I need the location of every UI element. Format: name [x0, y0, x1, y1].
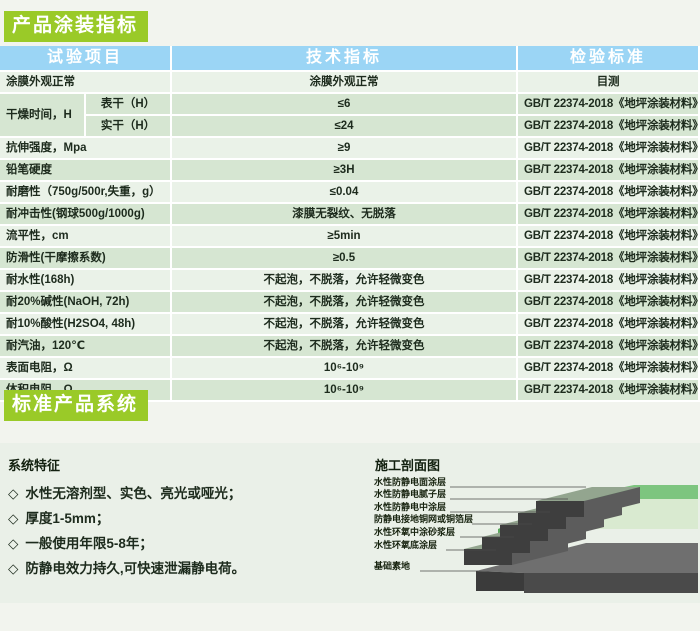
cell-standard: GB/T 22374-2018《地坪涂装材料》: [518, 226, 700, 248]
spec-table-body: 涂膜外观正常 涂膜外观正常 目测 干燥时间，H 表干（H） ≤6 GB/T 22…: [0, 72, 700, 402]
cell-item: 涂膜外观正常: [0, 72, 172, 94]
spec-table-head: 试验项目 技术指标 检验标准: [0, 46, 700, 72]
layer-label-6: 基础素地: [373, 560, 410, 571]
cell-value: 不起泡，不脱落，允许轻微变色: [172, 314, 518, 336]
cell-value: 不起泡，不脱落，允许轻微变色: [172, 336, 518, 358]
table-row: 耐20%碱性(NaOH, 72h) 不起泡，不脱落，允许轻微变色 GB/T 22…: [0, 292, 700, 314]
cell-item-merged: 干燥时间，H: [0, 94, 86, 138]
spec-table-container: 试验项目 技术指标 检验标准 涂膜外观正常 涂膜外观正常 目测 干燥时间，H 表…: [0, 46, 700, 402]
cell-value: 不起泡，不脱落，允许轻微变色: [172, 292, 518, 314]
cell-standard: GB/T 22374-2018《地坪涂装材料》: [518, 160, 700, 182]
cell-value: ≥5min: [172, 226, 518, 248]
table-row: 耐冲击性(钢球500g/1000g) 漆膜无裂纹、无脱落 GB/T 22374-…: [0, 204, 700, 226]
table-row: 耐10%酸性(H2SO4, 48h) 不起泡，不脱落，允许轻微变色 GB/T 2…: [0, 314, 700, 336]
layer-label-4: 水性环氧中涂砂浆层: [374, 526, 455, 537]
cell-standard: GB/T 22374-2018《地坪涂装材料》: [518, 248, 700, 270]
cell-item: 抗伸强度，Mpa: [0, 138, 172, 160]
cell-standard: GB/T 22374-2018《地坪涂装材料》: [518, 182, 700, 204]
table-row: 涂膜外观正常 涂膜外观正常 目测: [0, 72, 700, 94]
list-item-label: 水性无溶剂型、实色、亮光或哑光；: [25, 486, 241, 501]
cell-value: ≥0.5: [172, 248, 518, 270]
table-row: 抗伸强度，Mpa ≥9 GB/T 22374-2018《地坪涂装材料》: [0, 138, 700, 160]
list-item-label: 一般使用年限5-8年；: [25, 536, 153, 551]
cell-subitem: 表干（H）: [86, 94, 172, 116]
features-list: ◇水性无溶剂型、实色、亮光或哑光； ◇厚度1-5mm； ◇一般使用年限5-8年；…: [8, 481, 245, 581]
cell-item: 耐水性(168h): [0, 270, 172, 292]
cell-standard: GB/T 22374-2018《地坪涂装材料》: [518, 94, 700, 116]
layer-label-0: 水性防静电面涂层: [374, 476, 446, 487]
cell-item: 防滑性(干摩擦系数): [0, 248, 172, 270]
cell-value: ≤0.04: [172, 182, 518, 204]
table-row: 耐磨性（750g/500r,失重，g） ≤0.04 GB/T 22374-201…: [0, 182, 700, 204]
diamond-bullet-icon: ◇: [8, 511, 18, 526]
table-row: 流平性，cm ≥5min GB/T 22374-2018《地坪涂装材料》: [0, 226, 700, 248]
diamond-bullet-icon: ◇: [8, 536, 18, 551]
cell-standard: GB/T 22374-2018《地坪涂装材料》: [518, 116, 700, 138]
cell-item: 流平性，cm: [0, 226, 172, 248]
column-header-standard: 检验标准: [518, 46, 700, 72]
diamond-bullet-icon: ◇: [8, 561, 18, 576]
cell-standard: GB/T 22374-2018《地坪涂装材料》: [518, 138, 700, 160]
cell-standard: GB/T 22374-2018《地坪涂装材料》: [518, 270, 700, 292]
spec-table: 试验项目 技术指标 检验标准 涂膜外观正常 涂膜外观正常 目测 干燥时间，H 表…: [0, 46, 700, 402]
cross-section-diagram: 水性防静电面涂层 水性防静电腻子层 水性防静电中涂层 防静电接地铜网或铜箔层 水…: [372, 473, 698, 601]
cell-value: 漆膜无裂纹、无脱落: [172, 204, 518, 226]
diagram-title: 施工剖面图: [375, 455, 440, 474]
table-row: 防滑性(干摩擦系数) ≥0.5 GB/T 22374-2018《地坪涂装材料》: [0, 248, 700, 270]
cell-item: 耐10%酸性(H2SO4, 48h): [0, 314, 172, 336]
cell-value: 涂膜外观正常: [172, 72, 518, 94]
table-row: 耐水性(168h) 不起泡，不脱落，允许轻微变色 GB/T 22374-2018…: [0, 270, 700, 292]
layer-label-3: 防静电接地铜网或铜箔层: [374, 513, 473, 524]
cell-subitem: 实干（H）: [86, 116, 172, 138]
cell-value: ≤24: [172, 116, 518, 138]
cell-item: 耐冲击性(钢球500g/1000g): [0, 204, 172, 226]
list-item: ◇一般使用年限5-8年；: [8, 531, 245, 556]
cell-item: 耐磨性（750g/500r,失重，g）: [0, 182, 172, 204]
cell-value: ≤6: [172, 94, 518, 116]
section-badge-system: 标准产品系统: [4, 390, 148, 421]
table-header-row: 试验项目 技术指标 检验标准: [0, 46, 700, 72]
list-item: ◇厚度1-5mm；: [8, 506, 245, 531]
layer-label-2: 水性防静电中涂层: [374, 501, 446, 512]
table-row: 铅笔硬度 ≥3H GB/T 22374-2018《地坪涂装材料》: [0, 160, 700, 182]
cell-standard: GB/T 22374-2018《地坪涂装材料》: [518, 336, 700, 358]
layer-label-5: 水性环氧底涂层: [374, 539, 437, 550]
cell-standard: 目测: [518, 72, 700, 94]
table-row: 耐汽油，120℃ 不起泡，不脱落，允许轻微变色 GB/T 22374-2018《…: [0, 336, 700, 358]
features-title: 系统特征: [8, 455, 60, 474]
list-item-label: 厚度1-5mm；: [25, 511, 109, 526]
cell-item: 表面电阻，Ω: [0, 358, 172, 380]
cell-value: ≥9: [172, 138, 518, 160]
cell-value: 10⁶-10⁹: [172, 358, 518, 380]
table-row: 表面电阻，Ω 10⁶-10⁹ GB/T 22374-2018《地坪涂装材料》: [0, 358, 700, 380]
cell-value: 不起泡，不脱落，允许轻微变色: [172, 270, 518, 292]
list-item: ◇防静电效力持久,可快速泄漏静电荷。: [8, 556, 245, 581]
cell-value: 10⁶-10⁹: [172, 380, 518, 402]
list-item-label: 防静电效力持久,可快速泄漏静电荷。: [25, 561, 245, 576]
cell-standard: GB/T 22374-2018《地坪涂装材料》: [518, 380, 700, 402]
cell-item: 铅笔硬度: [0, 160, 172, 182]
cell-item: 耐汽油，120℃: [0, 336, 172, 358]
cell-standard: GB/T 22374-2018《地坪涂装材料》: [518, 204, 700, 226]
cell-value: ≥3H: [172, 160, 518, 182]
column-header-item: 试验项目: [0, 46, 172, 72]
cell-standard: GB/T 22374-2018《地坪涂装材料》: [518, 292, 700, 314]
cell-standard: GB/T 22374-2018《地坪涂装材料》: [518, 314, 700, 336]
section-badge-spec: 产品涂装指标: [4, 11, 148, 42]
column-header-index: 技术指标: [172, 46, 518, 72]
table-row: 干燥时间，H 表干（H） ≤6 GB/T 22374-2018《地坪涂装材料》: [0, 94, 700, 116]
layer-label-1: 水性防静电腻子层: [374, 488, 446, 499]
diamond-bullet-icon: ◇: [8, 486, 18, 501]
cell-item: 耐20%碱性(NaOH, 72h): [0, 292, 172, 314]
cell-standard: GB/T 22374-2018《地坪涂装材料》: [518, 358, 700, 380]
list-item: ◇水性无溶剂型、实色、亮光或哑光；: [8, 481, 245, 506]
table-row: 实干（H） ≤24 GB/T 22374-2018《地坪涂装材料》: [0, 116, 700, 138]
system-features-panel: 系统特征 ◇水性无溶剂型、实色、亮光或哑光； ◇厚度1-5mm； ◇一般使用年限…: [0, 443, 700, 603]
